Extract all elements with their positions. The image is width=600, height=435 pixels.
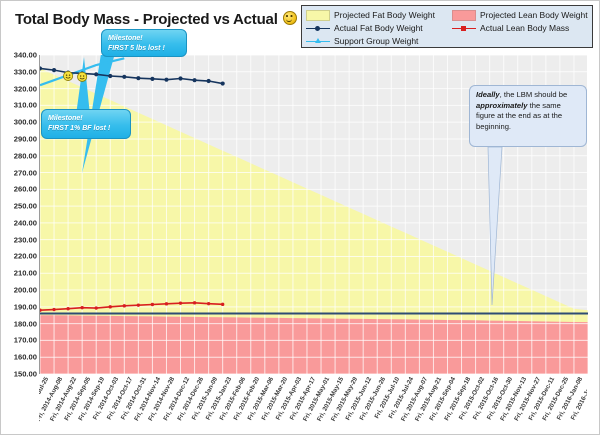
line-actual-fat-body-weight-point xyxy=(122,75,126,79)
y-axis-tick-label: 180.00 xyxy=(1,319,37,328)
line-actual-fat-body-weight-point xyxy=(52,68,56,72)
callout-milestone-1pct-bf: Milestone! FIRST 1% BF lost ! xyxy=(41,109,131,139)
callout-bubble: Ideally, the LBM should be approximately… xyxy=(469,85,587,147)
legend-item-projected-fat-body-weight[interactable]: Projected Fat Body Weight xyxy=(306,10,452,21)
line-actual-lean-body-mass-point xyxy=(52,308,55,311)
line-actual-lean-body-mass-point xyxy=(80,306,83,309)
chart-container: Total Body Mass - Projected vs Actual Pr… xyxy=(0,0,600,435)
line-actual-fat-body-weight-point xyxy=(178,76,182,80)
line-marker-icon xyxy=(452,24,476,33)
line-actual-fat-body-weight-point xyxy=(207,79,211,83)
callout-ideal-lbm-note: Ideally, the LBM should be approximately… xyxy=(469,85,587,147)
legend-item-projected-lean-body-weight[interactable]: Projected Lean Body Weight xyxy=(452,10,588,21)
y-axis-tick-label: 320.00 xyxy=(1,84,37,93)
y-axis-tick-label: 330.00 xyxy=(1,67,37,76)
x-axis: Fri, 2014-Jul-25Fri, 2014-Aug-08Fri, 201… xyxy=(39,376,587,434)
y-axis-tick-label: 340.00 xyxy=(1,51,37,60)
line-actual-lean-body-mass-point xyxy=(66,307,69,310)
legend-label: Support Group Weight xyxy=(334,36,418,46)
area-swatch-icon xyxy=(306,10,330,21)
y-axis-tick-label: 290.00 xyxy=(1,134,37,143)
legend-item-actual-lean-body-mass[interactable]: Actual Lean Body Mass xyxy=(452,23,569,33)
callout-emphasis-2: approximately xyxy=(476,101,528,110)
callout-emphasis-1: Ideally xyxy=(476,90,500,99)
callout-milestone-5lbs: Milestone! FIRST 5 lbs lost ! xyxy=(101,29,187,57)
legend-label: Actual Fat Body Weight xyxy=(334,23,423,33)
legend-row: Support Group Weight xyxy=(306,35,588,47)
legend-item-support-group-weight[interactable]: Support Group Weight xyxy=(306,36,452,46)
y-axis-tick-label: 150.00 xyxy=(1,370,37,379)
line-actual-fat-body-weight-point xyxy=(150,77,154,81)
y-axis-tick-label: 220.00 xyxy=(1,252,37,261)
callout-line-2: FIRST 1% BF lost ! xyxy=(48,124,124,134)
line-actual-fat-body-weight-point xyxy=(221,81,225,85)
y-axis-tick-label: 300.00 xyxy=(1,118,37,127)
y-axis-tick-label: 240.00 xyxy=(1,218,37,227)
milestone-marker xyxy=(64,71,73,80)
callout-bubble: Milestone! FIRST 5 lbs lost ! xyxy=(101,29,187,57)
y-axis-tick-label: 310.00 xyxy=(1,101,37,110)
y-axis-tick-label: 280.00 xyxy=(1,151,37,160)
line-marker-icon xyxy=(306,24,330,33)
y-axis-tick-label: 260.00 xyxy=(1,185,37,194)
callout-bubble: Milestone! FIRST 1% BF lost ! xyxy=(41,109,131,139)
triangle-marker-icon xyxy=(306,37,330,46)
y-axis-tick-label: 270.00 xyxy=(1,168,37,177)
line-actual-fat-body-weight-point xyxy=(192,78,196,82)
legend-label: Projected Fat Body Weight xyxy=(334,10,435,20)
line-actual-lean-body-mass-point xyxy=(151,303,154,306)
y-axis-tick-label: 230.00 xyxy=(1,235,37,244)
callout-line-1: Milestone! xyxy=(48,114,124,124)
legend-row: Actual Fat Body Weight Actual Lean Body … xyxy=(306,22,588,34)
line-actual-fat-body-weight-point xyxy=(164,78,168,82)
line-actual-lean-body-mass-point xyxy=(207,302,210,305)
callout-line-2: FIRST 5 lbs lost ! xyxy=(108,44,180,54)
line-actual-lean-body-mass-point xyxy=(165,302,168,305)
y-axis-tick-label: 170.00 xyxy=(1,336,37,345)
line-actual-lean-body-mass-point xyxy=(109,305,112,308)
legend-item-actual-fat-body-weight[interactable]: Actual Fat Body Weight xyxy=(306,23,452,33)
milestone-marker xyxy=(78,72,87,81)
line-actual-fat-body-weight-point xyxy=(136,76,140,80)
line-actual-lean-body-mass-point xyxy=(179,301,182,304)
area-swatch-icon xyxy=(452,10,476,21)
callout-text-1: , the LBM should be xyxy=(500,90,568,99)
legend-label: Actual Lean Body Mass xyxy=(480,23,569,33)
legend-row: Projected Fat Body Weight Projected Lean… xyxy=(306,9,588,21)
y-axis: 340.00330.00320.00310.00300.00290.00280.… xyxy=(1,55,37,374)
line-actual-lean-body-mass-point xyxy=(221,303,224,306)
y-axis-tick-label: 190.00 xyxy=(1,302,37,311)
chart-legend: Projected Fat Body Weight Projected Lean… xyxy=(301,5,593,48)
line-actual-fat-body-weight-point xyxy=(94,72,98,76)
line-actual-fat-body-weight-point xyxy=(108,74,112,78)
legend-label: Projected Lean Body Weight xyxy=(480,10,588,20)
y-axis-tick-label: 200.00 xyxy=(1,286,37,295)
y-axis-tick-label: 250.00 xyxy=(1,202,37,211)
line-actual-lean-body-mass-point xyxy=(193,301,196,304)
callout-line-1: Milestone! xyxy=(108,34,180,44)
page-title: Total Body Mass - Projected vs Actual xyxy=(15,11,297,28)
smiley-face-icon xyxy=(283,11,297,25)
chart-title-text: Total Body Mass - Projected vs Actual xyxy=(15,11,278,28)
line-actual-lean-body-mass-point xyxy=(95,306,98,309)
line-actual-lean-body-mass-point xyxy=(137,303,140,306)
y-axis-tick-label: 210.00 xyxy=(1,269,37,278)
line-actual-lean-body-mass-point xyxy=(123,304,126,307)
y-axis-tick-label: 160.00 xyxy=(1,353,37,362)
